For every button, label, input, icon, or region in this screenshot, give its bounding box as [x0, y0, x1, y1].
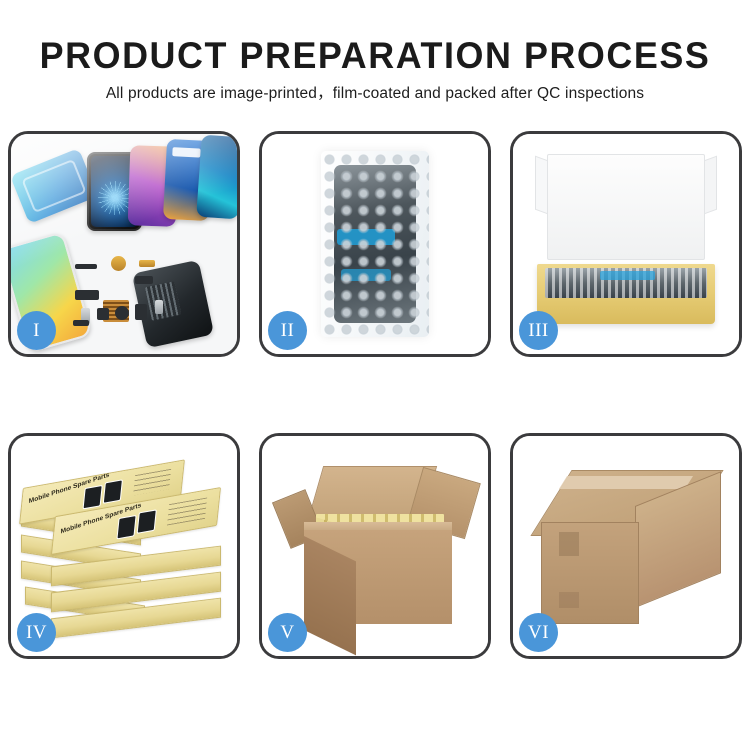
step-badge-6: VI — [519, 613, 558, 652]
process-step-panel-3[interactable]: III — [510, 131, 742, 357]
step-badge-2: II — [268, 311, 307, 350]
step-badge-1: I — [17, 311, 56, 350]
sealed-shipping-carton — [535, 470, 725, 630]
step-badge-5: V — [268, 613, 307, 652]
packed-items — [545, 268, 707, 298]
bubble-texture — [321, 151, 429, 337]
open-mailer-box — [535, 154, 717, 324]
process-step-panel-2[interactable]: II — [259, 131, 491, 357]
page-header: PRODUCT PREPARATION PROCESS All products… — [0, 0, 750, 104]
page-title: PRODUCT PREPARATION PROCESS — [11, 34, 739, 78]
process-step-grid: I II — [0, 126, 750, 686]
bubble-wrap-package — [321, 151, 429, 337]
stacked-retail-boxes: Mobile Phone Spare Parts Mobile Phone Sp… — [21, 458, 233, 638]
process-step-panel-1[interactable]: I — [8, 131, 240, 357]
blue-adhesive-backplate — [11, 148, 98, 224]
step-badge-3: III — [519, 311, 558, 350]
process-step-panel-4[interactable]: Mobile Phone Spare Parts Mobile Phone Sp… — [8, 433, 240, 659]
packing-tape — [559, 476, 693, 489]
page-subtitle: All products are image-printed，film-coat… — [0, 84, 750, 104]
open-shipping-carton — [280, 464, 476, 636]
spare-parts-cluster — [73, 256, 193, 342]
step-badge-4: IV — [17, 613, 56, 652]
teal-ribbon-screen — [196, 135, 237, 220]
process-step-panel-6[interactable]: VI — [510, 433, 742, 659]
process-step-panel-5[interactable]: V — [259, 433, 491, 659]
